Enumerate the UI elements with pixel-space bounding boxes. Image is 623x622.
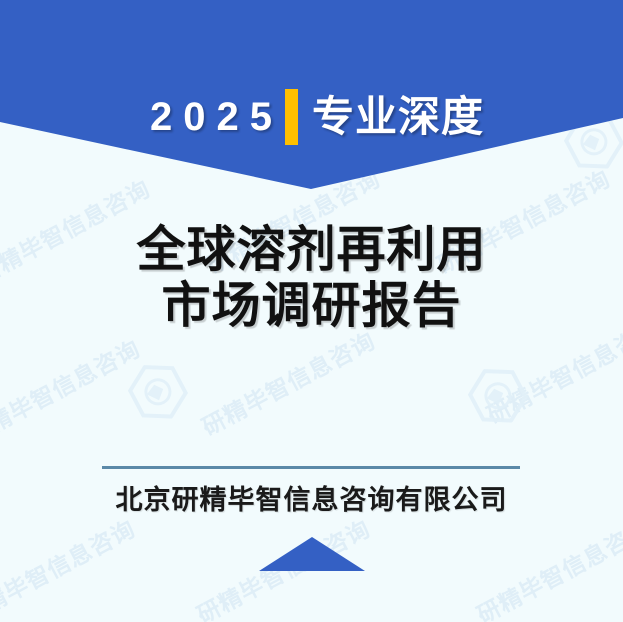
title-divider xyxy=(102,466,520,469)
watermark-logo-icon xyxy=(460,357,536,435)
report-cover-page: 研精毕智信息咨询研精毕智信息咨询研精毕智信息咨询研精毕智信息咨询研精毕智信息咨询… xyxy=(0,0,623,622)
year-label: 2025 xyxy=(139,97,283,137)
watermark-text: 研精毕智信息咨询 xyxy=(195,322,380,442)
report-title-line-1: 全球溶剂再利用 xyxy=(0,222,623,278)
watermark-logo-icon xyxy=(120,353,196,431)
bottom-triangle-ornament xyxy=(0,533,623,578)
tagline-label: 专业深度 xyxy=(312,96,484,138)
header-content: 2025 专业深度 xyxy=(0,86,623,148)
report-title-line-2: 市场调研报告 xyxy=(0,278,623,334)
report-title: 全球溶剂再利用 市场调研报告 xyxy=(0,222,623,334)
watermark-text: 研精毕智信息咨询 xyxy=(0,330,145,450)
year-separator-bar xyxy=(285,89,298,145)
publisher-name: 北京研精毕智信息咨询有限公司 xyxy=(0,482,623,518)
